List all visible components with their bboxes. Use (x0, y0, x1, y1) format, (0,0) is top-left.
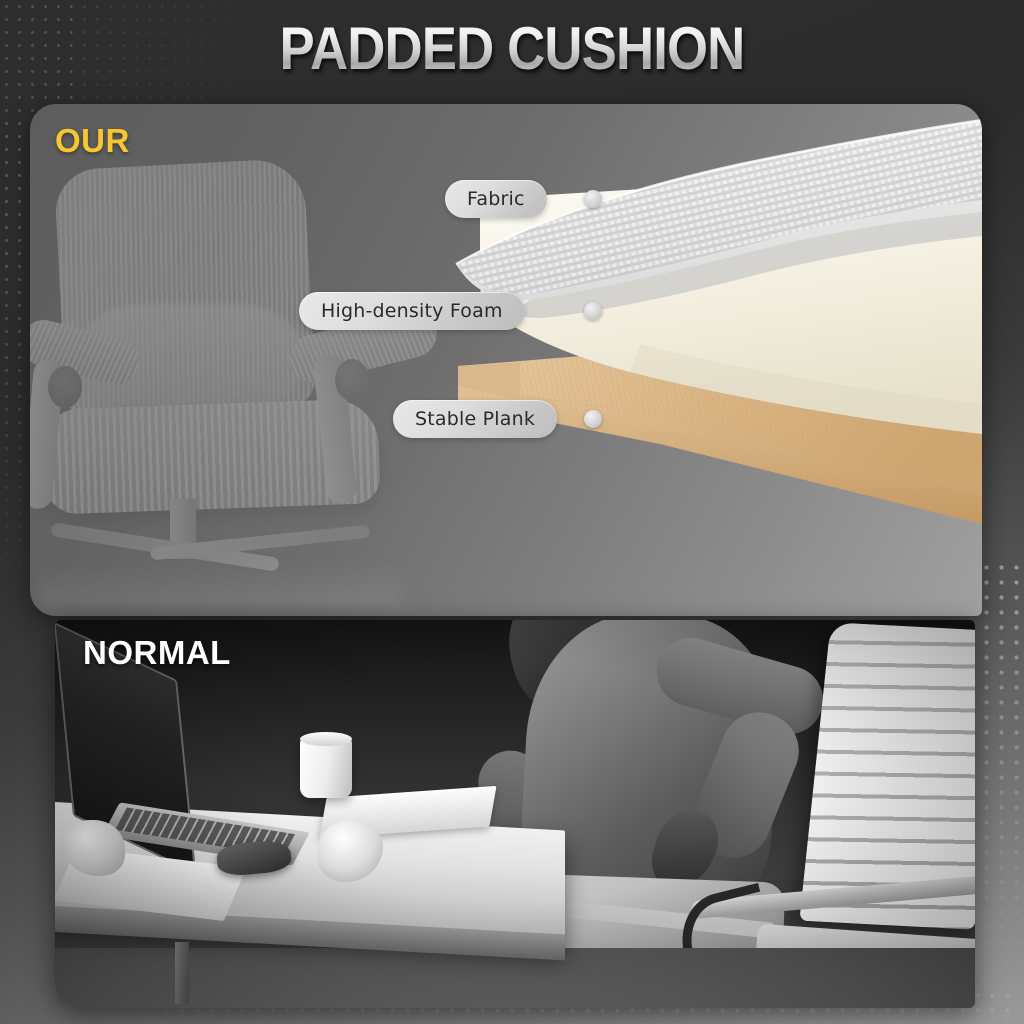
normal-label: NORMAL (83, 634, 231, 672)
our-label: OUR (55, 122, 130, 160)
callout-connector-dot-fabric (584, 190, 602, 208)
our-panel: OUR (30, 104, 982, 616)
chair-knob-left (48, 366, 82, 408)
back-pain-office-scene-image (55, 620, 975, 1008)
scene-vignette (55, 620, 975, 1008)
callout-connector-dot-plank (584, 410, 602, 428)
callout-connector-dot-foam (584, 302, 602, 320)
callout-pill-high-density-foam[interactable]: High-density Foam (299, 292, 525, 330)
normal-panel: NORMAL (55, 620, 975, 1008)
chair-knob-right (335, 359, 369, 401)
callout-pill-stable-plank[interactable]: Stable Plank (393, 400, 557, 438)
page-title: PADDED CUSHION (61, 14, 962, 83)
infographic-canvas: PADDED CUSHION OUR (0, 0, 1024, 1024)
callout-pill-fabric[interactable]: Fabric (445, 180, 547, 218)
chair-reflection (40, 562, 400, 607)
ghost-office-chair-image (30, 154, 460, 616)
